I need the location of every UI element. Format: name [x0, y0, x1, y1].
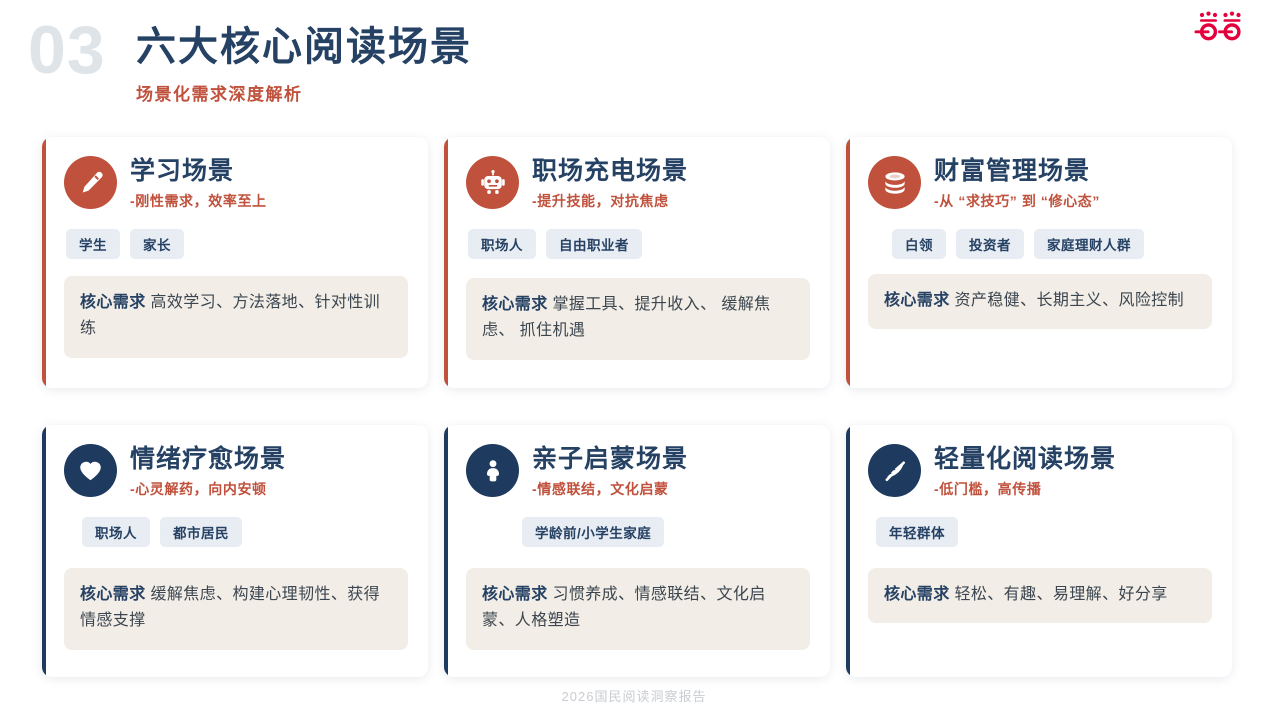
card-accent-bar	[42, 425, 46, 677]
card-tagline: -心灵解药，向内安顿	[130, 479, 286, 499]
feather-icon	[868, 444, 921, 497]
card-tag-row: 学生 家长	[64, 229, 408, 259]
page-subtitle: 场景化需求深度解析	[136, 80, 472, 105]
dangdang-logo	[1194, 10, 1246, 42]
card-title: 财富管理场景	[934, 157, 1100, 186]
card-tagline: -提升技能，对抗焦虑	[532, 191, 688, 211]
card-need-box: 核心需求 掌握工具、提升收入、 缓解焦虑、 抓住机遇	[466, 278, 810, 360]
page-title: 六大核心阅读场景	[136, 22, 472, 72]
card-tagline: -情感联结，文化启蒙	[532, 479, 688, 499]
tag-pill[interactable]: 家庭理财人群	[1034, 229, 1144, 259]
slide-header: 03 六大核心阅读场景 场景化需求深度解析	[0, 0, 1268, 128]
card-tagline: -刚性需求，效率至上	[130, 191, 267, 211]
need-text: 资产稳健、长期主义、风险控制	[954, 292, 1184, 309]
need-label: 核心需求	[884, 586, 950, 603]
scenario-card-workplace[interactable]: 职场充电场景 -提升技能，对抗焦虑 职场人 自由职业者 核心需求 掌握工具、提升…	[444, 137, 830, 388]
tag-pill[interactable]: 年轻群体	[876, 517, 958, 547]
coins-icon	[868, 156, 921, 209]
need-label: 核心需求	[884, 292, 950, 309]
slide-footer: 2026国民阅读洞察报告	[0, 686, 1268, 705]
tag-pill[interactable]: 职场人	[468, 229, 536, 259]
need-label: 核心需求	[482, 586, 548, 603]
tag-pill[interactable]: 自由职业者	[546, 229, 642, 259]
tag-pill[interactable]: 家长	[130, 229, 184, 259]
tag-pill[interactable]: 学龄前/小学生家庭	[522, 517, 664, 547]
card-accent-bar	[846, 137, 850, 388]
card-title-group: 职场充电场景 -提升技能，对抗焦虑	[532, 155, 688, 211]
card-need-box: 核心需求 轻松、有趣、易理解、好分享	[868, 568, 1212, 623]
card-tagline: -低门槛，高传播	[934, 479, 1116, 499]
card-accent-bar	[42, 137, 46, 388]
card-need-box: 核心需求 资产稳健、长期主义、风险控制	[868, 274, 1212, 329]
heart-icon	[64, 444, 117, 497]
card-header: 职场充电场景 -提升技能，对抗焦虑	[466, 155, 810, 211]
scenario-card-grid: 学习场景 -刚性需求，效率至上 学生 家长 核心需求 高效学习、方法落地、针对性…	[42, 137, 1228, 677]
card-accent-bar	[444, 137, 448, 388]
card-title-group: 财富管理场景 -从 “求技巧” 到 “修心态”	[934, 155, 1100, 211]
scenario-card-light-reading[interactable]: 轻量化阅读场景 -低门槛，高传播 年轻群体 核心需求 轻松、有趣、易理解、好分享	[846, 425, 1232, 677]
card-title-group: 轻量化阅读场景 -低门槛，高传播	[934, 443, 1116, 499]
scenario-card-emotional-healing[interactable]: 情绪疗愈场景 -心灵解药，向内安顿 职场人 都市居民 核心需求 缓解焦虑、构建心…	[42, 425, 428, 677]
tag-pill[interactable]: 投资者	[956, 229, 1024, 259]
card-tag-row: 学龄前/小学生家庭	[466, 517, 810, 547]
card-title-group: 亲子启蒙场景 -情感联结，文化启蒙	[532, 443, 688, 499]
card-title: 情绪疗愈场景	[130, 445, 286, 474]
scenario-card-wealth[interactable]: 财富管理场景 -从 “求技巧” 到 “修心态” 白领 投资者 家庭理财人群 核心…	[846, 137, 1232, 388]
card-header: 亲子启蒙场景 -情感联结，文化启蒙	[466, 443, 810, 499]
tag-pill[interactable]: 都市居民	[160, 517, 242, 547]
card-title: 职场充电场景	[532, 157, 688, 186]
need-label: 核心需求	[80, 586, 146, 603]
header-text-group: 六大核心阅读场景 场景化需求深度解析	[136, 22, 472, 105]
card-title-group: 学习场景 -刚性需求，效率至上	[130, 155, 267, 211]
need-text: 轻松、有趣、易理解、好分享	[954, 586, 1167, 603]
card-title: 学习场景	[130, 157, 267, 186]
card-need-box: 核心需求 高效学习、方法落地、针对性训练	[64, 276, 408, 358]
card-tagline: -从 “求技巧” 到 “修心态”	[934, 191, 1100, 211]
card-header: 学习场景 -刚性需求，效率至上	[64, 155, 408, 211]
robot-icon	[466, 156, 519, 209]
scenario-card-parent-child[interactable]: 亲子启蒙场景 -情感联结，文化启蒙 学龄前/小学生家庭 核心需求 习惯养成、情感…	[444, 425, 830, 677]
tag-pill[interactable]: 学生	[66, 229, 120, 259]
tag-pill[interactable]: 职场人	[82, 517, 150, 547]
card-header: 财富管理场景 -从 “求技巧” 到 “修心态”	[868, 155, 1212, 211]
card-title: 亲子启蒙场景	[532, 445, 688, 474]
card-tag-row: 白领 投资者 家庭理财人群	[868, 229, 1212, 259]
child-icon	[466, 444, 519, 497]
card-tag-row: 职场人 自由职业者	[466, 229, 810, 259]
tag-pill[interactable]: 白领	[892, 229, 946, 259]
scenario-card-study[interactable]: 学习场景 -刚性需求，效率至上 学生 家长 核心需求 高效学习、方法落地、针对性…	[42, 137, 428, 388]
card-accent-bar	[846, 425, 850, 677]
card-header: 情绪疗愈场景 -心灵解药，向内安顿	[64, 443, 408, 499]
card-header: 轻量化阅读场景 -低门槛，高传播	[868, 443, 1212, 499]
pencil-icon	[64, 156, 117, 209]
card-accent-bar	[444, 425, 448, 677]
card-need-box: 核心需求 缓解焦虑、构建心理韧性、获得情感支撑	[64, 568, 408, 650]
card-need-box: 核心需求 习惯养成、情感联结、文化启蒙、人格塑造	[466, 568, 810, 650]
card-title-group: 情绪疗愈场景 -心灵解药，向内安顿	[130, 443, 286, 499]
card-tag-row: 年轻群体	[868, 517, 1212, 547]
need-label: 核心需求	[80, 294, 146, 311]
card-title: 轻量化阅读场景	[934, 445, 1116, 474]
section-number: 03	[28, 16, 106, 84]
card-tag-row: 职场人 都市居民	[64, 517, 408, 547]
need-label: 核心需求	[482, 296, 548, 313]
